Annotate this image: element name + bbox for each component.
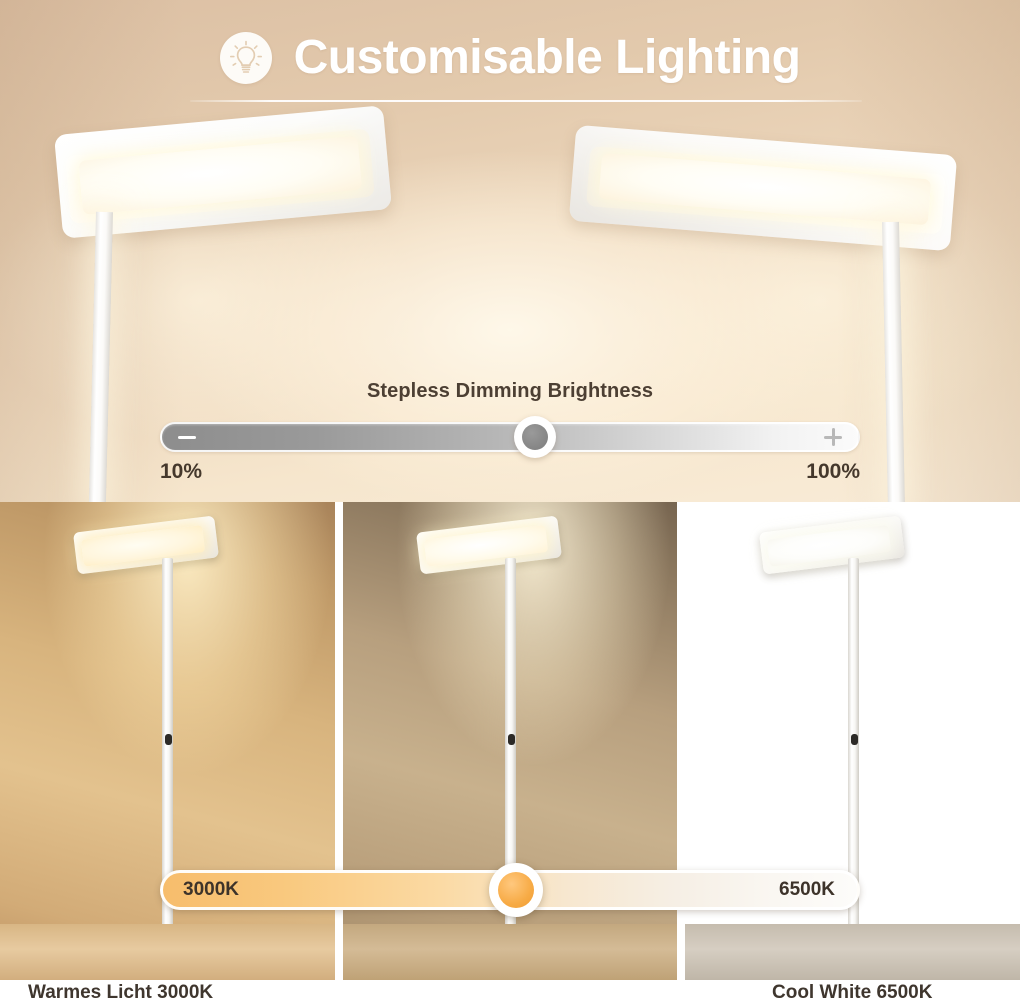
floor-neutral xyxy=(343,924,678,980)
dimming-label: Stepless Dimming Brightness xyxy=(0,380,1020,403)
product-feature-image: Customisable Lighting Stepless Dimming B… xyxy=(0,0,1020,1008)
floor-cool xyxy=(685,924,1020,980)
page-title: Customisable Lighting xyxy=(294,34,801,82)
floor-warm xyxy=(0,924,335,980)
dimming-slider[interactable] xyxy=(160,422,860,452)
floor-lamp-led xyxy=(767,525,891,567)
caption-cool: Cool White 6500K xyxy=(772,982,932,1004)
dimming-control: Stepless Dimming Brightness 10% 100% xyxy=(0,380,1020,403)
header-divider xyxy=(190,100,862,102)
floor-lamp-switch[interactable] xyxy=(508,734,515,745)
floor-lamp-head xyxy=(759,516,905,575)
color-temperature-max-label: 6500K xyxy=(779,879,835,901)
floor-lamp-switch[interactable] xyxy=(851,734,858,745)
hero-section: Customisable Lighting Stepless Dimming B… xyxy=(0,0,1020,502)
floor-lamp-switch[interactable] xyxy=(165,734,172,745)
dimming-slider-track[interactable] xyxy=(160,422,860,452)
floor-lamp-led xyxy=(424,525,548,567)
plus-icon[interactable] xyxy=(824,428,842,446)
hero-header: Customisable Lighting xyxy=(0,18,1020,98)
lamp-pole-right xyxy=(882,222,905,502)
floor-lamp-head xyxy=(416,516,562,575)
color-temperature-min-label: 3000K xyxy=(183,879,239,901)
dimming-min-label: 10% xyxy=(160,460,202,484)
color-temperature-thumb[interactable] xyxy=(489,863,543,917)
caption-warm: Warmes Licht 3000K xyxy=(28,982,213,1004)
minus-icon[interactable] xyxy=(178,428,196,446)
caption-row: Warmes Licht 3000K Cool White 6500K xyxy=(0,980,1020,1008)
floor-lamp-head xyxy=(73,516,219,575)
lightbulb-icon xyxy=(220,32,272,84)
lamp-pole-left xyxy=(89,212,113,502)
dimming-slider-thumb[interactable] xyxy=(514,416,556,458)
color-temperature-slider[interactable]: 3000K 6500K xyxy=(160,870,860,910)
floor-lamp-led xyxy=(81,525,205,567)
dimming-max-label: 100% xyxy=(806,460,860,484)
